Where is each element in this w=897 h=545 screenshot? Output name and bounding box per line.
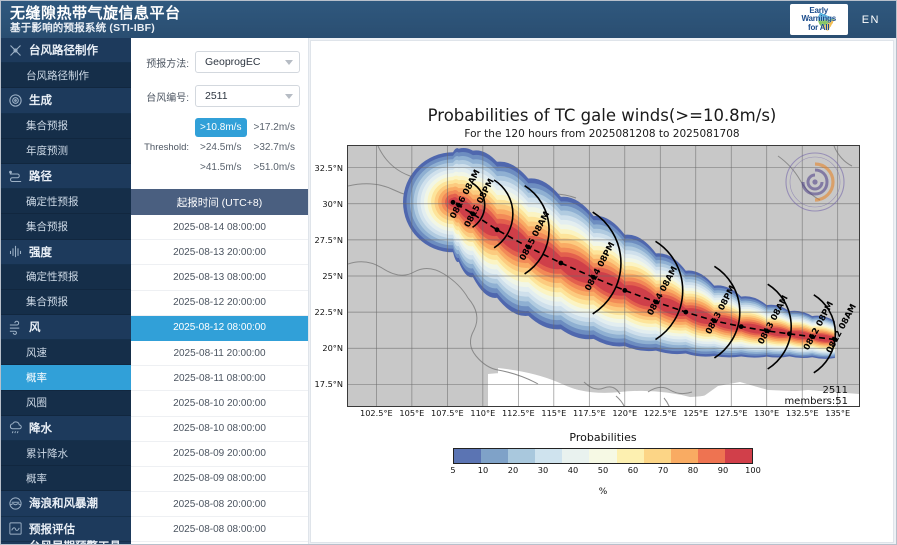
sidebar-group-label: 降水: [29, 420, 52, 436]
init-time-list[interactable]: 2025-08-14 08:00:002025-08-13 20:00:0020…: [131, 215, 308, 545]
threshold-button-group: >10.8m/s>17.2m/s>24.5m/s>32.7m/s>41.5m/s…: [195, 118, 300, 177]
sidebar-item-label: 概率: [26, 471, 47, 486]
y-tick-3: 25°N: [322, 271, 343, 281]
threshold-button-4[interactable]: >41.5m/s: [195, 158, 247, 177]
init-time-list-header: 起报时间 (UTC+8): [131, 189, 308, 215]
threshold-button-1[interactable]: >17.2m/s: [249, 118, 301, 137]
logo-line-3: for All: [808, 23, 829, 32]
colorbar-tick-4: 40: [568, 465, 578, 475]
colorbar-segment-3: [535, 449, 562, 463]
sidebar-item-label: 概率: [26, 370, 47, 385]
header-right-block: Early Warnings for All EN: [790, 4, 897, 35]
members-count-annotation: members:51: [784, 396, 848, 407]
colorbar-segment-0: [454, 449, 481, 463]
y-axis-ticks: 32.5°N30°N27.5°N25°N22.5°N20°N17.5°N: [311, 145, 345, 407]
colorbar-tick-6: 60: [628, 465, 638, 475]
members-annotation: 2511 members:51: [784, 385, 848, 407]
x-tick-7: 120°E: [612, 408, 637, 418]
sidebar-item-4-2[interactable]: 风圈: [1, 391, 131, 416]
sidebar-group-label: 海浪和风暴潮: [29, 495, 98, 511]
header-title-block: 无缝隙热带气旋信息平台 基于影响的预报系统 (STI-IBF): [1, 6, 181, 34]
x-tick-5: 115°E: [541, 408, 566, 418]
threshold-row: Threshold: >10.8m/s>17.2m/s>24.5m/s>32.7…: [139, 118, 300, 177]
colorbar-unit-label: %: [311, 487, 895, 497]
x-tick-2: 107.5°E: [431, 408, 464, 418]
sidebar-item-label: 风圈: [26, 395, 47, 410]
sidebar-item-5-0[interactable]: 累计降水: [1, 441, 131, 466]
forecast-method-label: 预报方法:: [139, 55, 195, 70]
x-tick-6: 117.5°E: [573, 408, 606, 418]
colorbar-segment-6: [617, 449, 644, 463]
colorbar-tick-3: 30: [538, 465, 548, 475]
colorbar-segment-8: [671, 449, 698, 463]
map-container[interactable]: 0816 08AM0815 08PM0815 08AM0814 08PM0814…: [347, 145, 860, 407]
sidebar-item-label: 确定性预报: [26, 194, 79, 209]
colorbar-segment-2: [508, 449, 535, 463]
sidebar-item-label: 台风路径制作: [26, 68, 89, 83]
y-tick-4: 22.5°N: [315, 307, 343, 317]
typhoon-institute-watermark-logo: [784, 151, 846, 213]
x-tick-3: 110°E: [470, 408, 495, 418]
init-time-item-6[interactable]: 2025-08-11 08:00:00: [131, 366, 308, 391]
page-subtitle: 基于影响的预报系统 (STI-IBF): [10, 23, 181, 34]
colorbar-segment-4: [562, 449, 589, 463]
colorbar-strip: [453, 448, 753, 464]
language-toggle-button[interactable]: EN: [858, 11, 884, 29]
colorbar-tick-labels: 5102030405060708090100: [453, 464, 753, 476]
sidebar-item-label: 风速: [26, 345, 47, 360]
sidebar-item-5-1[interactable]: 概率: [1, 466, 131, 491]
threshold-button-2[interactable]: >24.5m/s: [195, 138, 247, 157]
rain-icon: [8, 420, 23, 435]
x-tick-0: 102.5°E: [360, 408, 393, 418]
colorbar-tick-1: 10: [478, 465, 488, 475]
sidebar-group-0[interactable]: 台风路径制作: [1, 38, 131, 63]
sidebar-group-label: 生成: [29, 92, 52, 108]
sidebar-item-4-1[interactable]: 概率: [1, 365, 131, 390]
x-tick-4: 112.5°E: [502, 408, 535, 418]
x-tick-9: 125°E: [683, 408, 708, 418]
sidebar-group-label: 台风早期预警工具包: [29, 538, 131, 545]
storm-id-annotation: 2511: [784, 385, 848, 396]
storm-number-label: 台风编号:: [139, 89, 195, 104]
x-tick-13: 135°E: [825, 408, 850, 418]
init-time-item-0[interactable]: 2025-08-14 08:00:00: [131, 215, 308, 240]
sidebar-group-label: 路径: [29, 168, 52, 184]
threshold-label: Threshold:: [139, 142, 195, 153]
forecast-method-select[interactable]: GeoprogEC: [195, 51, 300, 73]
sidebar-group-label: 强度: [29, 244, 52, 260]
init-time-item-5[interactable]: 2025-08-11 20:00:00: [131, 341, 308, 366]
colorbar-title: Probabilities: [311, 431, 895, 444]
colorbar-tick-8: 80: [688, 465, 698, 475]
init-time-item-2[interactable]: 2025-08-13 08:00:00: [131, 265, 308, 290]
colorbar-block: Probabilities 5102030405060708090100 %: [311, 431, 895, 497]
wave-surge-icon: [8, 496, 23, 511]
init-time-item-11[interactable]: 2025-08-08 20:00:00: [131, 492, 308, 517]
sidebar-item-4-0[interactable]: 风速: [1, 340, 131, 365]
init-time-item-9[interactable]: 2025-08-09 20:00:00: [131, 442, 308, 467]
sidebar-item-label: 确定性预报: [26, 269, 79, 284]
init-time-item-4[interactable]: 2025-08-12 08:00:00: [131, 316, 308, 341]
sidebar-item-1-1[interactable]: 年度预测: [1, 139, 131, 164]
wind-icon: [8, 320, 23, 335]
sidebar-nav: 台风路径制作台风路径制作生成集合预报年度预测路径确定性预报集合预报强度确定性预报…: [1, 38, 131, 545]
control-panel: 预报方法: GeoprogEC 台风编号: 2511 Threshold: >1…: [131, 38, 309, 545]
intensity-icon: [8, 244, 23, 259]
y-tick-1: 30°N: [322, 199, 343, 209]
storm-number-row: 台风编号: 2511: [139, 82, 300, 110]
colorbar-segment-7: [644, 449, 671, 463]
sidebar-item-0-0[interactable]: 台风路径制作: [1, 63, 131, 88]
chart-subtitle: For the 120 hours from 2025081208 to 202…: [311, 128, 893, 140]
sidebar-item-2-0[interactable]: 确定性预报: [1, 189, 131, 214]
x-tick-11: 130°E: [754, 408, 779, 418]
forecast-method-value: GeoprogEC: [205, 56, 260, 68]
sidebar-group-label: 预报评估: [29, 521, 75, 537]
init-time-item-7[interactable]: 2025-08-10 20:00:00: [131, 391, 308, 416]
x-tick-1: 105°E: [399, 408, 424, 418]
sidebar-group-label: 风: [29, 319, 41, 335]
y-tick-6: 17.5°N: [315, 379, 343, 389]
sidebar-item-label: 累计降水: [26, 446, 68, 461]
early-warnings-for-all-logo: Early Warnings for All: [790, 4, 848, 35]
sidebar-group-label: 台风路径制作: [29, 42, 98, 58]
sidebar-group-4[interactable]: 风: [1, 315, 131, 340]
y-tick-0: 32.5°N: [315, 163, 343, 173]
path-icon: [8, 169, 23, 184]
init-time-item-8[interactable]: 2025-08-10 08:00:00: [131, 417, 308, 442]
generate-icon: [8, 93, 23, 108]
colorbar-tick-2: 20: [508, 465, 518, 475]
init-time-item-1[interactable]: 2025-08-13 20:00:00: [131, 240, 308, 265]
init-time-item-3[interactable]: 2025-08-12 20:00:00: [131, 291, 308, 316]
sidebar-item-1-0[interactable]: 集合预报: [1, 114, 131, 139]
colorbar-tick-9: 90: [718, 465, 728, 475]
x-tick-10: 127.5°E: [715, 408, 748, 418]
threshold-button-0[interactable]: >10.8m/s: [195, 118, 247, 137]
track-tool-icon: [8, 43, 23, 58]
sidebar-item-label: 集合预报: [26, 219, 68, 234]
init-time-item-12[interactable]: 2025-08-08 08:00:00: [131, 517, 308, 542]
sidebar-item-label: 年度预测: [26, 143, 68, 158]
app-header: 无缝隙热带气旋信息平台 基于影响的预报系统 (STI-IBF) Early Wa…: [1, 1, 897, 38]
sidebar-item-3-0[interactable]: 确定性预报: [1, 265, 131, 290]
chart-title: Probabilities of TC gale winds(>=10.8m/s…: [311, 106, 893, 125]
verification-icon: [8, 521, 23, 536]
colorbar-tick-10: 100: [745, 465, 761, 475]
storm-number-value: 2511: [205, 90, 228, 102]
y-tick-5: 20°N: [322, 343, 343, 353]
colorbar-segment-1: [481, 449, 508, 463]
sidebar-item-label: 集合预报: [26, 294, 68, 309]
sidebar-group-3[interactable]: 强度: [1, 240, 131, 265]
sidebar-item-label: 集合预报: [26, 118, 68, 133]
x-tick-8: 122.5°E: [644, 408, 677, 418]
colorbar-tick-5: 50: [598, 465, 608, 475]
x-tick-12: 132.5°E: [786, 408, 819, 418]
sidebar-group-1[interactable]: 生成: [1, 88, 131, 113]
chart-panel: Probabilities of TC gale winds(>=10.8m/s…: [310, 40, 894, 543]
probability-contour-svg: 0816 08AM0815 08PM0815 08AM0814 08PM0814…: [348, 146, 859, 406]
y-tick-2: 27.5°N: [315, 235, 343, 245]
sidebar-item-3-1[interactable]: 集合预报: [1, 290, 131, 315]
colorbar-segment-5: [589, 449, 616, 463]
threshold-button-5[interactable]: >51.0m/s: [249, 158, 301, 177]
chevron-down-icon: [285, 60, 293, 65]
app-root: 无缝隙热带气旋信息平台 基于影响的预报系统 (STI-IBF) Early Wa…: [0, 0, 897, 545]
sidebar-item-2-1[interactable]: 集合预报: [1, 214, 131, 239]
colorbar-segment-10: [725, 449, 752, 463]
threshold-button-3[interactable]: >32.7m/s: [249, 138, 301, 157]
chevron-down-icon: [285, 94, 293, 99]
colorbar-tick-0: 5: [450, 465, 455, 475]
colorbar-segment-9: [698, 449, 725, 463]
x-axis-ticks: 102.5°E105°E107.5°E110°E112.5°E115°E117.…: [347, 408, 860, 422]
forecast-method-row: 预报方法: GeoprogEC: [139, 48, 300, 76]
page-title: 无缝隙热带气旋信息平台: [10, 6, 181, 21]
init-time-item-10[interactable]: 2025-08-09 08:00:00: [131, 467, 308, 492]
sidebar-group-6[interactable]: 海浪和风暴潮: [1, 491, 131, 516]
sidebar-group-2[interactable]: 路径: [1, 164, 131, 189]
storm-number-select[interactable]: 2511: [195, 85, 300, 107]
colorbar-tick-7: 70: [658, 465, 668, 475]
sidebar-group-5[interactable]: 降水: [1, 416, 131, 441]
